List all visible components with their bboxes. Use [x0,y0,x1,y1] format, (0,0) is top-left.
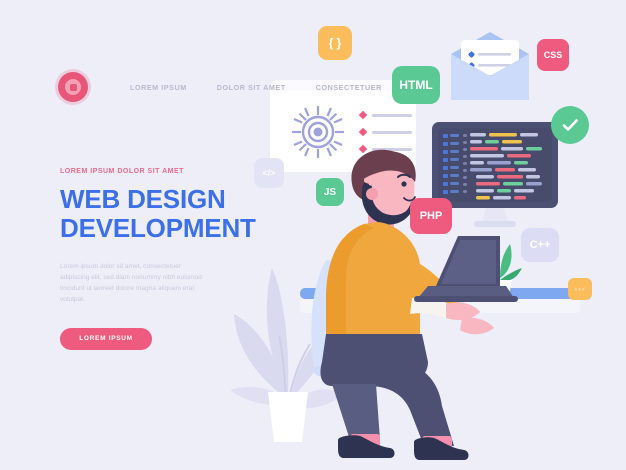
badge-cpp: C++ [521,228,559,262]
badge-dots: ••• [568,278,592,300]
desk-plant-illustration [476,240,524,294]
circle-logo-icon[interactable] [58,72,88,102]
gear-icon [290,104,346,160]
diamond-bullet-icon [359,145,367,153]
potted-plant-pot [264,390,312,444]
badge-html: HTML [392,66,440,104]
desk-surface [300,280,580,320]
badge-curly-braces: { } [318,26,352,60]
badge-js: JS [316,178,344,206]
diamond-bullet-icon [359,111,367,119]
page-title-line-1: WEB DESIGN [60,184,226,214]
hero-eyebrow: LOREM IPSUM DOLOR SIT AMET [60,168,275,175]
list-item-line [372,114,412,117]
nav-item-dolor-sit-amet[interactable]: DOLOR SIT AMET [217,83,286,92]
code-editor-monitor [430,122,560,230]
landing-page: { } CSS HTML JS PHP C++ </> ••• LOREM IP… [0,0,626,470]
diamond-bullet-icon [359,128,367,136]
hero-copy: LOREM IPSUM DOLOR SIT AMET WEB DESIGN DE… [60,168,275,350]
dashboard-list [360,112,412,163]
badge-php: PHP [410,198,452,234]
list-item-line [372,148,412,151]
nav-links: LOREM IPSUM DOLOR SIT AMET CONSECTETUER [130,83,382,92]
success-check [551,106,589,144]
logo-inner-ring [65,79,81,95]
shoe-left [336,434,396,460]
top-navigation: LOREM IPSUM DOLOR SIT AMET CONSECTETUER [58,72,382,102]
hero-paragraph: Lorem ipsum dolor sit amet, consectetuer… [60,261,212,305]
check-icon [560,115,580,135]
list-item [360,146,412,152]
list-item-line [372,131,412,134]
chair-illustration [300,254,390,424]
page-title: WEB DESIGN DEVELOPMENT [60,185,275,243]
envelope-card [447,30,533,102]
list-item [360,112,412,118]
badge-css: CSS [537,39,569,71]
logo-mark [70,84,77,91]
laptop-illustration [410,232,538,304]
shoe-right [412,436,470,462]
nav-item-consectetuer[interactable]: CONSECTETUER [316,83,382,92]
page-title-line-2: DEVELOPMENT [60,214,275,243]
list-item [360,129,412,135]
developer-illustration [316,148,516,448]
cta-button[interactable]: LOREM IPSUM [60,328,152,350]
nav-item-lorem-ipsum[interactable]: LOREM IPSUM [130,83,187,92]
